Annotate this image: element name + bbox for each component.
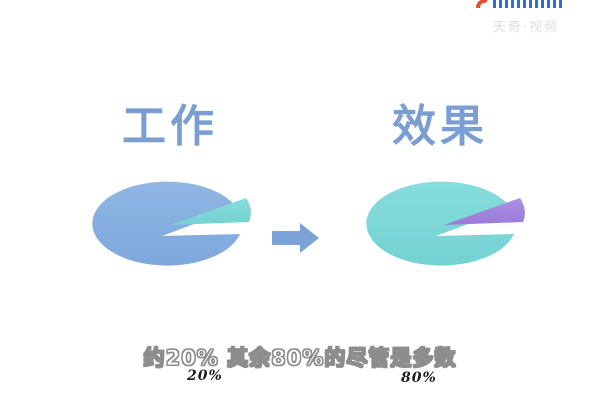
watermark: 天奇·视频 — [452, 0, 600, 44]
right-arrow-icon — [272, 222, 320, 254]
work-pie-slice-major — [92, 182, 240, 266]
effect-pie-label-80: 80% — [401, 370, 437, 386]
heading-effect: 效果 — [392, 90, 488, 154]
watermark-brand-text: 天奇·视频 — [493, 16, 559, 35]
tianqi-logo-icon — [474, 0, 578, 10]
subtitle-caption: 约20% 其余80%的尽管是多数 — [0, 342, 600, 372]
effect-pie-chart: 80% — [336, 172, 536, 292]
work-pie-chart: 20% — [62, 172, 262, 292]
slide-canvas: 天奇·视频 工作 效果 20 — [0, 0, 600, 400]
heading-work: 工作 — [122, 90, 218, 154]
effect-pie-slice-80 — [366, 182, 514, 266]
